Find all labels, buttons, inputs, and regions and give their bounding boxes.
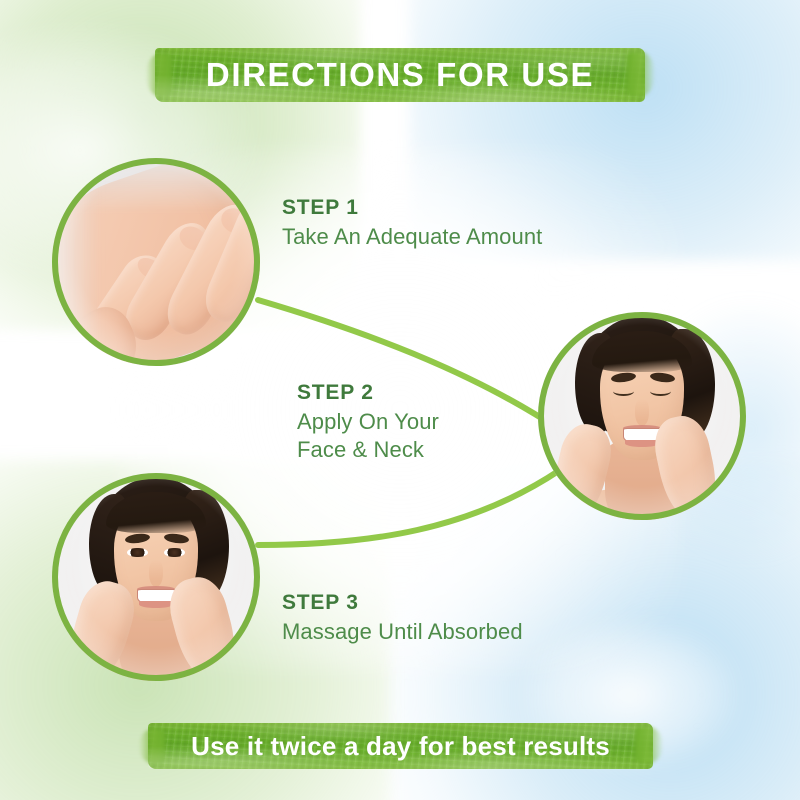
step-1-title: STEP 1 [282, 196, 542, 220]
header-banner: DIRECTIONS FOR USE [155, 48, 645, 102]
step-1-photo-ring [52, 158, 260, 366]
footer-banner-text: Use it twice a day for best results [191, 731, 610, 762]
step-2-description-line-2: Face & Neck [297, 436, 439, 464]
connector-step2-to-step3 [258, 470, 560, 545]
step-1-text-block: STEP 1 Take An Adequate Amount [282, 196, 542, 251]
step-3-title: STEP 3 [282, 591, 523, 615]
step-2-description-line-1: Apply On Your [297, 408, 439, 436]
step-2-title: STEP 2 [297, 381, 439, 405]
step-1-description: Take An Adequate Amount [282, 223, 542, 251]
header-banner-text: DIRECTIONS FOR USE [206, 56, 594, 94]
footer-banner: Use it twice a day for best results [148, 723, 653, 769]
step-2-text-block: STEP 2 Apply On Your Face & Neck [297, 381, 439, 464]
step-3-text-block: STEP 3 Massage Until Absorbed [282, 591, 523, 646]
step-3-photo-ring [52, 473, 260, 681]
directions-for-use-poster: DIRECTIONS FOR USE STEP 1 Take An Adequa… [0, 0, 800, 800]
step-2-photo-ring [538, 312, 746, 520]
step-3-description: Massage Until Absorbed [282, 618, 523, 646]
